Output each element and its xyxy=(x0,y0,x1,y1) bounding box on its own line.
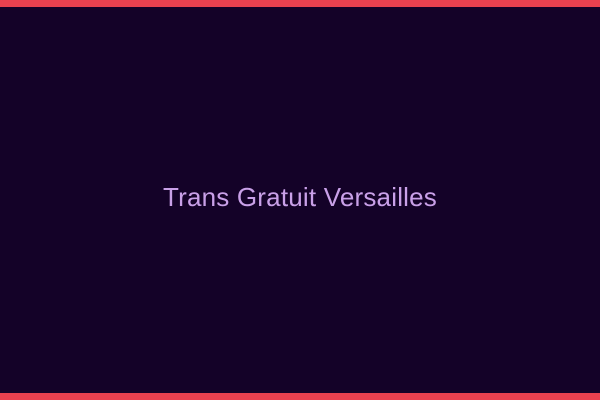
bottom-accent-bar xyxy=(0,393,600,400)
page-title: Trans Gratuit Versailles xyxy=(147,182,453,213)
top-accent-bar xyxy=(0,0,600,7)
placeholder-card: Trans Gratuit Versailles xyxy=(0,0,600,400)
